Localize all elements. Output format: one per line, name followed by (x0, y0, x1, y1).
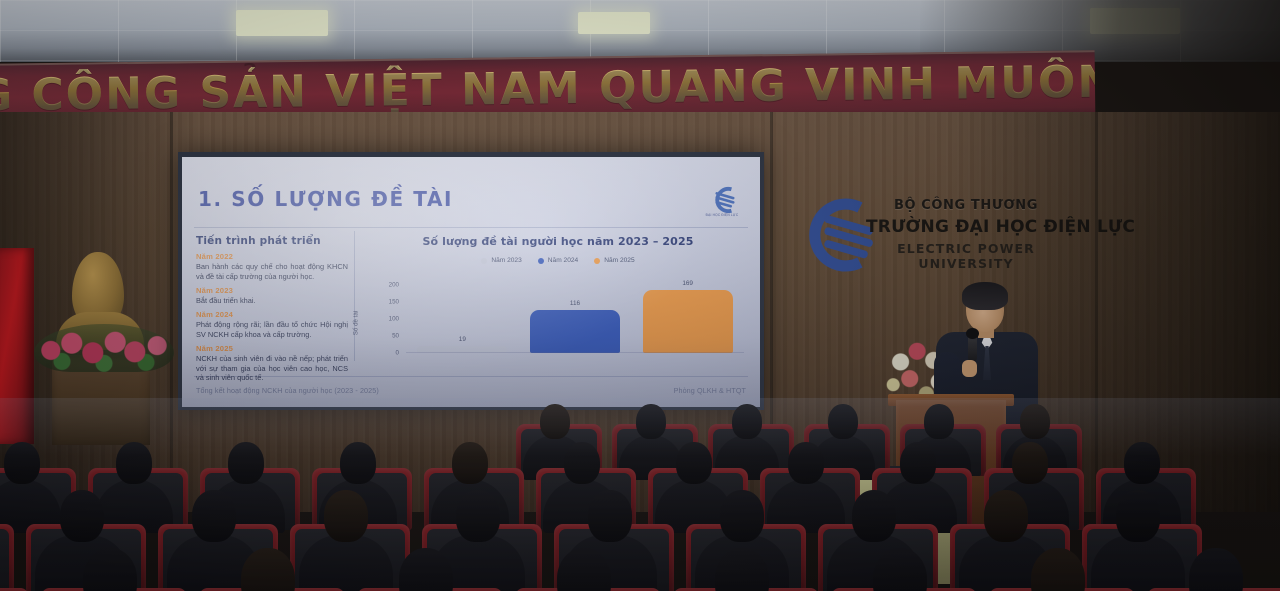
legend-swatch-2024 (538, 258, 544, 264)
chart-bar-label: 116 (570, 300, 580, 307)
timeline-text: Ban hành các quy chế cho hoạt động KHCN … (196, 262, 348, 282)
chart-title: Số lượng đề tài người học năm 2023 – 202… (368, 235, 748, 248)
microphone-head (966, 328, 979, 339)
audience-area (0, 398, 1280, 591)
chart-baseline (406, 352, 744, 353)
legend-label: Năm 2023 (491, 257, 521, 264)
audience-head (1124, 442, 1160, 484)
slide-footer-right: Phòng QLKH & HTQT (674, 386, 746, 395)
chart-y-tick: 0 (396, 350, 399, 357)
chart-y-tick: 200 (389, 282, 399, 289)
timeline-entry: Năm 2022 Ban hành các quy chế cho hoạt đ… (196, 252, 348, 282)
chart-y-tick: 100 (389, 316, 399, 323)
chart-plot-area: Số đề tài 050100150200 19116169 (368, 279, 748, 367)
audience-head (676, 442, 712, 484)
projection-screen: 1. SỐ LƯỢNG ĐỀ TÀI ĐẠI HỌC ĐIỆN LỰC Tiến… (182, 157, 760, 407)
audience-head (1012, 442, 1048, 484)
legend-item: Năm 2025 (594, 257, 634, 264)
audience-head (732, 404, 762, 439)
audience-head (720, 490, 764, 542)
audience-head (116, 442, 152, 484)
audience-head (452, 442, 488, 484)
chart-legend: Năm 2023 Năm 2024 Năm 2025 (368, 257, 748, 264)
audience-head (241, 548, 295, 591)
auditorium-chair (0, 524, 14, 591)
timeline-year: Năm 2023 (196, 286, 348, 295)
chart-y-tick: 50 (392, 333, 399, 340)
wall-sign-university-vi: TRƯỜNG ĐẠI HỌC ĐIỆN LỰC (866, 217, 1066, 237)
ceiling-light-2 (578, 12, 650, 34)
slide-title: 1. SỐ LƯỢNG ĐỀ TÀI (198, 187, 453, 211)
timeline-panel: Tiến trình phát triển Năm 2022 Ban hành … (196, 235, 348, 383)
timeline-year: Năm 2025 (196, 344, 348, 353)
wall-sign: BỘ CÔNG THƯƠNG TRƯỜNG ĐẠI HỌC ĐIỆN LỰC E… (866, 198, 1066, 271)
audience-head (228, 442, 264, 484)
timeline-entry: Năm 2025 NCKH của sinh viên đi vào nề nế… (196, 344, 348, 384)
timeline-text: Phát động rộng rãi; lần đầu tổ chức Hội … (196, 320, 348, 340)
chart-bar (643, 290, 733, 353)
audience-head (564, 442, 600, 484)
audience-head (540, 404, 570, 439)
audience-head (1020, 404, 1050, 439)
chart-bar-label: 19 (459, 336, 466, 343)
audience-head (852, 490, 896, 542)
slide-logo-caption: ĐẠI HỌC ĐIỆN LỰC (698, 213, 746, 217)
timeline-text: Bắt đầu triển khai. (196, 296, 348, 306)
timeline-entry: Năm 2023 Bắt đầu triển khai. (196, 286, 348, 306)
audience-head (4, 442, 40, 484)
audience-head (924, 404, 954, 439)
chair-cushion (0, 529, 9, 591)
legend-item: Năm 2024 (538, 257, 578, 264)
timeline-heading: Tiến trình phát triển (196, 235, 348, 247)
timeline-text: NCKH của sinh viên đi vào nề nếp; phát t… (196, 354, 348, 384)
legend-swatch-2023 (481, 258, 487, 264)
timeline-year: Năm 2022 (196, 252, 348, 261)
auditorium-scene: G CỘNG SẢN VIỆT NAM QUANG VINH MUÔN NĂM … (0, 0, 1280, 591)
audience-head (1031, 548, 1085, 591)
ceiling-light-1 (236, 10, 328, 36)
wall-sign-university-en: ELECTRIC POWER UNIVERSITY (866, 241, 1066, 271)
audience-head (588, 490, 632, 542)
audience-head (900, 442, 936, 484)
slide-divider-horizontal (194, 227, 748, 228)
audience-head (456, 490, 500, 542)
legend-label: Năm 2024 (548, 257, 578, 264)
legend-swatch-2025 (594, 258, 600, 264)
audience-head (60, 490, 104, 542)
audience-head (192, 490, 236, 542)
chart-y-axis: Số đề tài 050100150200 (368, 279, 402, 367)
presentation-slide: 1. SỐ LƯỢNG ĐỀ TÀI ĐẠI HỌC ĐIỆN LỰC Tiến… (182, 157, 760, 407)
audience-head (828, 404, 858, 439)
presenter-hair (962, 282, 1008, 310)
chart-bar-label: 169 (682, 280, 693, 287)
timeline-year: Năm 2024 (196, 310, 348, 319)
slide-footer-left: Tổng kết hoạt động NCKH của người học (2… (196, 386, 379, 395)
audience-head (340, 442, 376, 484)
audience-head (636, 404, 666, 439)
chart-bar (530, 310, 620, 353)
chart-y-tick: 150 (389, 299, 399, 306)
slide-divider-vertical (354, 231, 355, 361)
bar-chart: Số lượng đề tài người học năm 2023 – 202… (368, 235, 748, 367)
audience-head (788, 442, 824, 484)
legend-item: Năm 2023 (481, 257, 521, 264)
audience-head (1189, 548, 1243, 591)
presenter-hand (962, 360, 977, 377)
chart-bars: 19116169 (406, 279, 744, 353)
legend-label: Năm 2025 (604, 257, 634, 264)
wall-sign-ministry: BỘ CÔNG THƯƠNG (866, 198, 1066, 213)
audience-head (1116, 490, 1160, 542)
audience-head (324, 490, 368, 542)
audience-head (984, 490, 1028, 542)
timeline-entry: Năm 2024 Phát động rộng rãi; lần đầu tổ … (196, 310, 348, 340)
chart-y-axis-label: Số đề tài (353, 311, 360, 335)
epu-logo-slide (700, 185, 744, 215)
